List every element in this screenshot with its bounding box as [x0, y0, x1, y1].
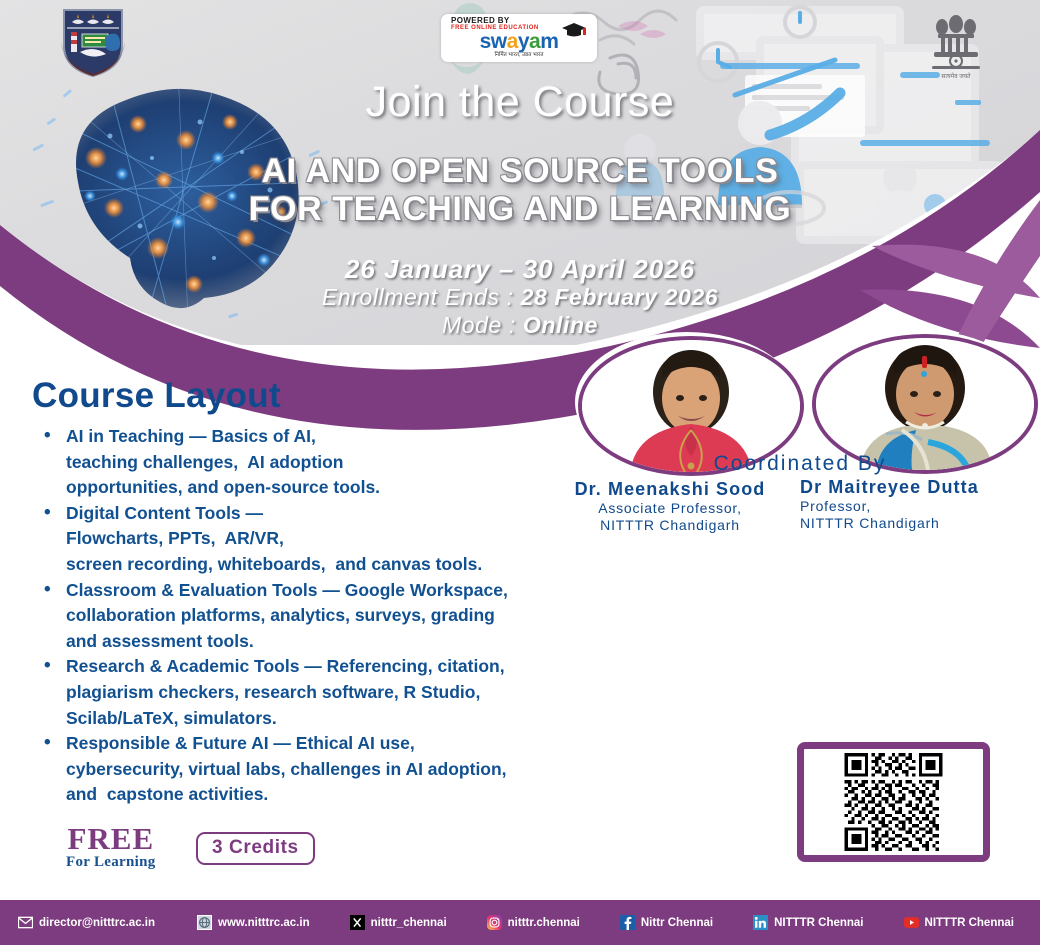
youtube-icon — [904, 915, 919, 930]
coordinator-1-institution: NITTTR Chandigarh — [540, 517, 800, 534]
list-item: • Research & Academic Tools — Referencin… — [38, 654, 698, 731]
free-badge: FREE For Learning — [66, 824, 156, 870]
swayam-tagline: निर्मित भारत, उन्नत भारत — [445, 52, 593, 59]
course-mode: Mode : Online — [0, 311, 1040, 339]
swayam-logo: POWERED BY FREE ONLINE EDUCATION swayam … — [441, 14, 597, 62]
join-the-course-heading: Join the Course — [0, 78, 1040, 127]
contact-footer: director@nitttrc.ac.in www.nitttrc.ac.in… — [0, 900, 1040, 945]
bullet-line: and capstone activities. — [66, 782, 698, 808]
footer-item-linkedin[interactable]: NITTTR Chennai — [753, 915, 863, 930]
bullet-icon: • — [44, 730, 51, 756]
free-sublabel: For Learning — [66, 854, 156, 870]
footer-label-x-twitter: nitttr_chennai — [371, 917, 447, 929]
bullet-line: and assessment tools. — [66, 629, 698, 655]
course-poster: POWERED BY FREE ONLINE EDUCATION swayam … — [0, 0, 1040, 945]
course-title: AI AND OPEN SOURCE TOOLS FOR TEACHING AN… — [0, 152, 1040, 228]
bullet-icon: • — [44, 653, 51, 679]
qr-code-image — [808, 753, 979, 851]
footer-item-youtube[interactable]: NITTTR Chennai — [904, 915, 1014, 930]
footer-label-website: www.nitttrc.ac.in — [218, 917, 310, 929]
mode-label: Mode : — [442, 312, 523, 338]
footer-label-youtube: NITTTR Chennai — [925, 917, 1014, 929]
coordinator-2-institution: NITTTR Chandigarh — [800, 515, 1038, 532]
course-layout-heading: Course Layout — [32, 376, 281, 416]
course-title-line2: FOR TEACHING AND LEARNING — [249, 190, 792, 228]
coordinator-1-details: Dr. Meenakshi Sood Associate Professor, … — [540, 478, 800, 534]
bullet-line: Classroom & Evaluation Tools — Google Wo… — [66, 578, 698, 604]
footer-label-email: director@nitttrc.ac.in — [39, 917, 155, 929]
free-label: FREE — [66, 824, 156, 854]
enrollment-value: 28 February 2026 — [521, 284, 719, 310]
bullet-line: screen recording, whiteboards, and canva… — [66, 552, 698, 578]
enrollment-label: Enrollment Ends : — [322, 284, 521, 310]
footer-item-instagram[interactable]: nitttr.chennai — [487, 915, 580, 930]
footer-item-facebook[interactable]: Nittr Chennai — [620, 915, 713, 930]
bullet-icon: • — [44, 423, 51, 449]
enrollment-qr-code[interactable] — [797, 742, 990, 862]
linkedin-icon — [753, 915, 768, 930]
bullet-line: Scilab/LaTeX, simulators. — [66, 706, 698, 732]
course-title-line1: AI AND OPEN SOURCE TOOLS — [262, 152, 779, 190]
bullet-line: collaboration platforms, analytics, surv… — [66, 603, 698, 629]
bullet-line: cybersecurity, virtual labs, challenges … — [66, 757, 698, 783]
national-emblem-icon: सत्यमेव जयते — [925, 8, 987, 80]
footer-item-website[interactable]: www.nitttrc.ac.in — [197, 915, 310, 930]
footer-label-instagram: nitttr.chennai — [508, 917, 580, 929]
enrollment-deadline: Enrollment Ends : 28 February 2026 — [0, 283, 1040, 311]
website-icon — [197, 915, 212, 930]
bullet-icon: • — [44, 577, 51, 603]
bullet-icon: • — [44, 500, 51, 526]
mode-value: Online — [523, 312, 598, 338]
course-duration: 26 January – 30 April 2026 — [0, 255, 1040, 283]
footer-item-x-twitter[interactable]: nitttr_chennai — [350, 915, 447, 930]
facebook-icon — [620, 915, 635, 930]
coordinator-1-role: Associate Professor, — [540, 500, 800, 517]
footer-item-email[interactable]: director@nitttrc.ac.in — [18, 915, 155, 930]
nitttr-crest-logo — [56, 6, 130, 78]
coordinator-2-name: Dr Maitreyee Dutta — [800, 476, 1038, 498]
poster-header: POWERED BY FREE ONLINE EDUCATION swayam … — [0, 0, 1040, 345]
email-icon — [18, 915, 33, 930]
list-item: • Classroom & Evaluation Tools — Google … — [38, 578, 698, 655]
instagram-icon — [487, 915, 502, 930]
coordinator-1-name: Dr. Meenakshi Sood — [540, 478, 800, 500]
coordinated-by-heading: Coordinated By — [560, 452, 1040, 476]
bullet-line: AI in Teaching — Basics of AI, — [66, 424, 698, 450]
bullet-line: Responsible & Future AI — Ethical AI use… — [66, 731, 698, 757]
footer-label-facebook: Nittr Chennai — [641, 917, 713, 929]
footer-label-linkedin: NITTTR Chennai — [774, 917, 863, 929]
list-item: • Responsible & Future AI — Ethical AI u… — [38, 731, 698, 808]
coordinator-2-portrait — [816, 338, 1034, 470]
coordinator-2-role: Professor, — [800, 498, 1038, 515]
x-twitter-icon — [350, 915, 365, 930]
graduation-cap-icon — [561, 22, 587, 38]
bullet-line: plagiarism checkers, research software, … — [66, 680, 698, 706]
course-dates-block: 26 January – 30 April 2026 Enrollment En… — [0, 255, 1040, 339]
coordinator-2-details: Dr Maitreyee Dutta Professor, NITTTR Cha… — [800, 476, 1038, 532]
bullet-line: Research & Academic Tools — Referencing,… — [66, 654, 698, 680]
credits-badge: 3 Credits — [196, 832, 315, 865]
